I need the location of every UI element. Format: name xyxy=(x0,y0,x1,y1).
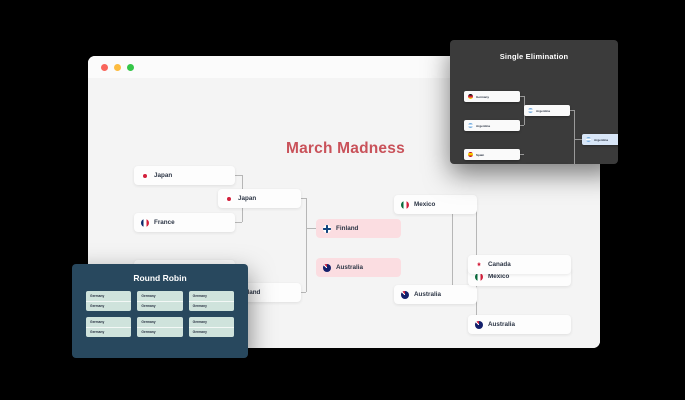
team-label: Germany xyxy=(137,302,182,312)
bracket-row[interactable]: Argentina xyxy=(464,120,520,131)
flag-australia-icon xyxy=(475,321,483,329)
page-title: March Madness xyxy=(286,140,405,158)
bracket-row[interactable]: Japan xyxy=(134,166,235,185)
round-robin-card[interactable]: Germany Germany xyxy=(86,291,131,311)
flag-australia-icon xyxy=(323,264,331,272)
bracket-row[interactable]: Germany xyxy=(464,91,520,102)
team-label: Germany xyxy=(189,317,234,328)
round-robin-card[interactable]: Germany Germany xyxy=(137,317,182,337)
team-label: Germany xyxy=(476,95,489,99)
team-label: Germany xyxy=(189,291,234,302)
team-label: Germany xyxy=(86,291,131,302)
flag-france-icon xyxy=(141,219,149,227)
minimize-button[interactable] xyxy=(114,64,121,71)
flag-finland-icon xyxy=(323,225,331,233)
close-button[interactable] xyxy=(101,64,108,71)
team-label: Finland xyxy=(336,225,358,232)
bracket-row[interactable]: France xyxy=(134,213,235,232)
bracket-row-highlighted[interactable]: Finland xyxy=(316,219,401,238)
team-label: Germany xyxy=(137,291,182,302)
connector-line xyxy=(574,139,582,140)
team-label: Japan xyxy=(238,195,256,202)
flag-japan-icon xyxy=(225,195,233,203)
flag-argentina-icon xyxy=(528,108,533,113)
team-label: Argentina xyxy=(476,124,490,128)
team-label: Mexico xyxy=(488,273,509,280)
team-label: Germany xyxy=(86,317,131,328)
team-label: Mexico xyxy=(414,201,435,208)
team-label: France xyxy=(154,219,175,226)
connector-line xyxy=(306,198,307,292)
round-robin-card[interactable]: Germany Germany xyxy=(189,317,234,337)
team-label: Australia xyxy=(414,291,441,298)
flag-germany-icon xyxy=(468,94,473,99)
team-label: Germany xyxy=(137,328,182,338)
connector-line xyxy=(306,228,316,229)
team-label: Germany xyxy=(86,302,131,312)
round-robin-card[interactable]: Germany Germany xyxy=(189,291,234,311)
bracket-row[interactable]: Argentina xyxy=(524,105,570,116)
bracket-row[interactable]: Australia xyxy=(468,315,571,334)
single-elimination-body: Germany Argentina Spain Netherlands Arge… xyxy=(450,61,618,157)
team-label: Australia xyxy=(488,321,515,328)
team-label: Spain xyxy=(476,153,484,157)
bracket-row[interactable]: Spain xyxy=(464,149,520,160)
bracket-row-highlighted[interactable]: Australia xyxy=(316,258,401,277)
team-label: Argentina xyxy=(594,138,608,142)
round-robin-card[interactable]: Germany Germany xyxy=(86,317,131,337)
connector-line xyxy=(574,110,575,164)
maximize-button[interactable] xyxy=(127,64,134,71)
team-label: Germany xyxy=(189,302,234,312)
bracket-row[interactable]: Canada xyxy=(468,255,571,274)
connector-line xyxy=(452,204,453,294)
flag-argentina-icon xyxy=(586,137,591,142)
flag-australia-icon xyxy=(401,291,409,299)
flag-spain-icon xyxy=(468,152,473,157)
bracket-row[interactable]: Japan xyxy=(218,189,301,208)
round-robin-grid: Germany Germany Germany Germany Germany … xyxy=(72,283,248,337)
team-label: Germany xyxy=(86,328,131,338)
team-label: Canada xyxy=(488,261,511,268)
team-label: Germany xyxy=(189,328,234,338)
round-robin-panel: Round Robin Germany Germany Germany Germ… xyxy=(72,264,248,358)
bracket-row[interactable]: Australia xyxy=(394,285,477,304)
single-elimination-title: Single Elimination xyxy=(450,52,618,61)
round-robin-title: Round Robin xyxy=(72,273,248,283)
flag-argentina-icon xyxy=(468,123,473,128)
flag-mexico-icon xyxy=(401,201,409,209)
single-elimination-panel: Single Elimination Germany Argentina Spa… xyxy=(450,40,618,164)
team-label: Japan xyxy=(154,172,172,179)
team-label: Australia xyxy=(336,264,363,271)
team-label: Germany xyxy=(137,317,182,328)
flag-canada-icon xyxy=(475,261,483,269)
team-label: Argentina xyxy=(536,109,550,113)
bracket-row-winner[interactable]: Argentina xyxy=(582,134,618,145)
flag-japan-icon xyxy=(141,172,149,180)
bracket-row[interactable]: Mexico xyxy=(394,195,477,214)
round-robin-card[interactable]: Germany Germany xyxy=(137,291,182,311)
